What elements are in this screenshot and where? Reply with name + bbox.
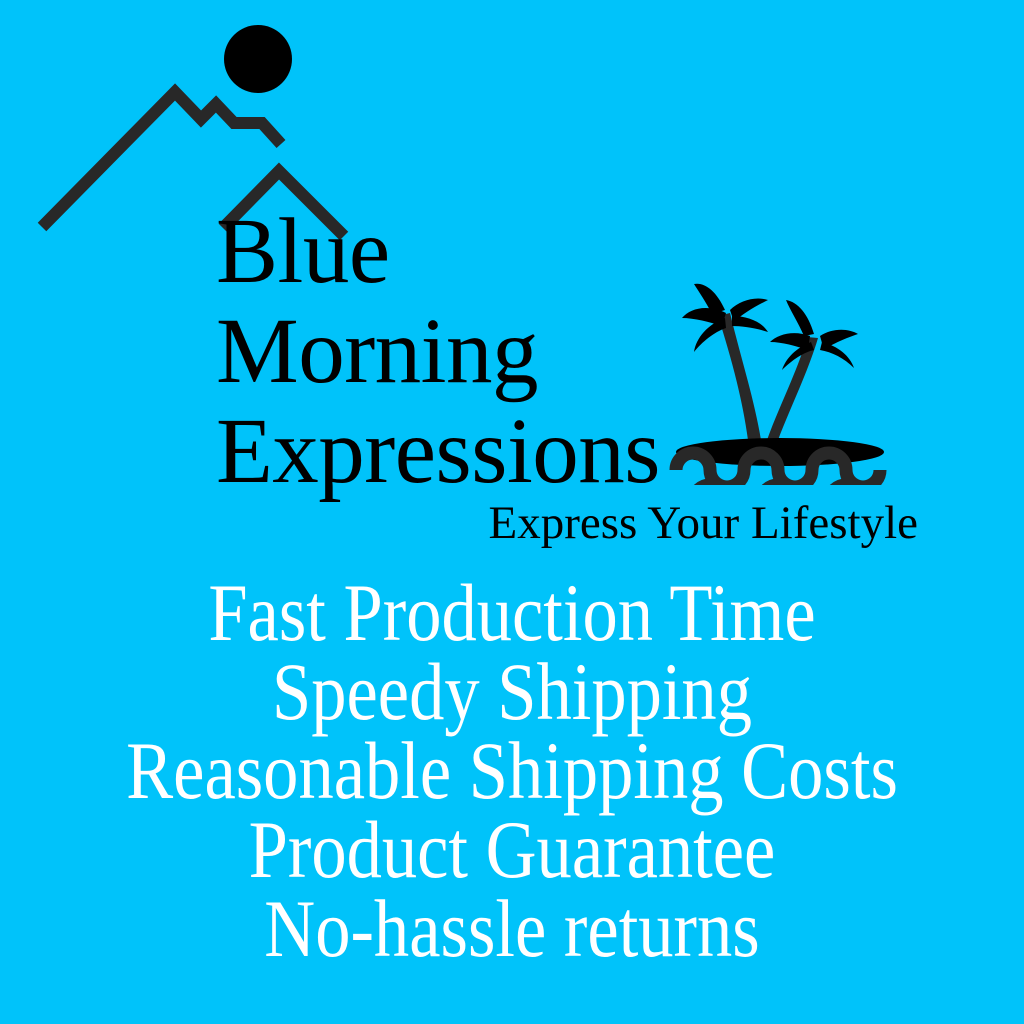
palm-trunk-right (767, 337, 818, 440)
brand-tagline: Express Your Lifestyle (0, 497, 918, 549)
sun-circle-icon (224, 25, 292, 93)
benefit-item-2: Speedy Shipping (72, 652, 953, 731)
palm-fronds-right (770, 300, 858, 370)
brand-line-2: Morning (216, 302, 736, 402)
brand-line-3: Expressions (216, 402, 736, 502)
promo-graphic-canvas: Blue Morning Expressions Express Your Li… (0, 0, 1024, 1024)
benefit-item-3: Reasonable Shipping Costs (72, 731, 953, 810)
benefits-list: Fast Production Time Speedy Shipping Rea… (0, 573, 1024, 968)
brand-line-1: Blue (216, 202, 736, 302)
benefit-item-4: Product Guarantee (72, 810, 953, 889)
brand-wordmark: Blue Morning Expressions (216, 202, 736, 502)
benefit-item-5: No-hassle returns (72, 889, 953, 968)
brand-logo-block: Blue Morning Expressions Express Your Li… (0, 0, 1024, 565)
benefit-item-1: Fast Production Time (72, 573, 953, 652)
palm-tree-right (767, 300, 858, 440)
